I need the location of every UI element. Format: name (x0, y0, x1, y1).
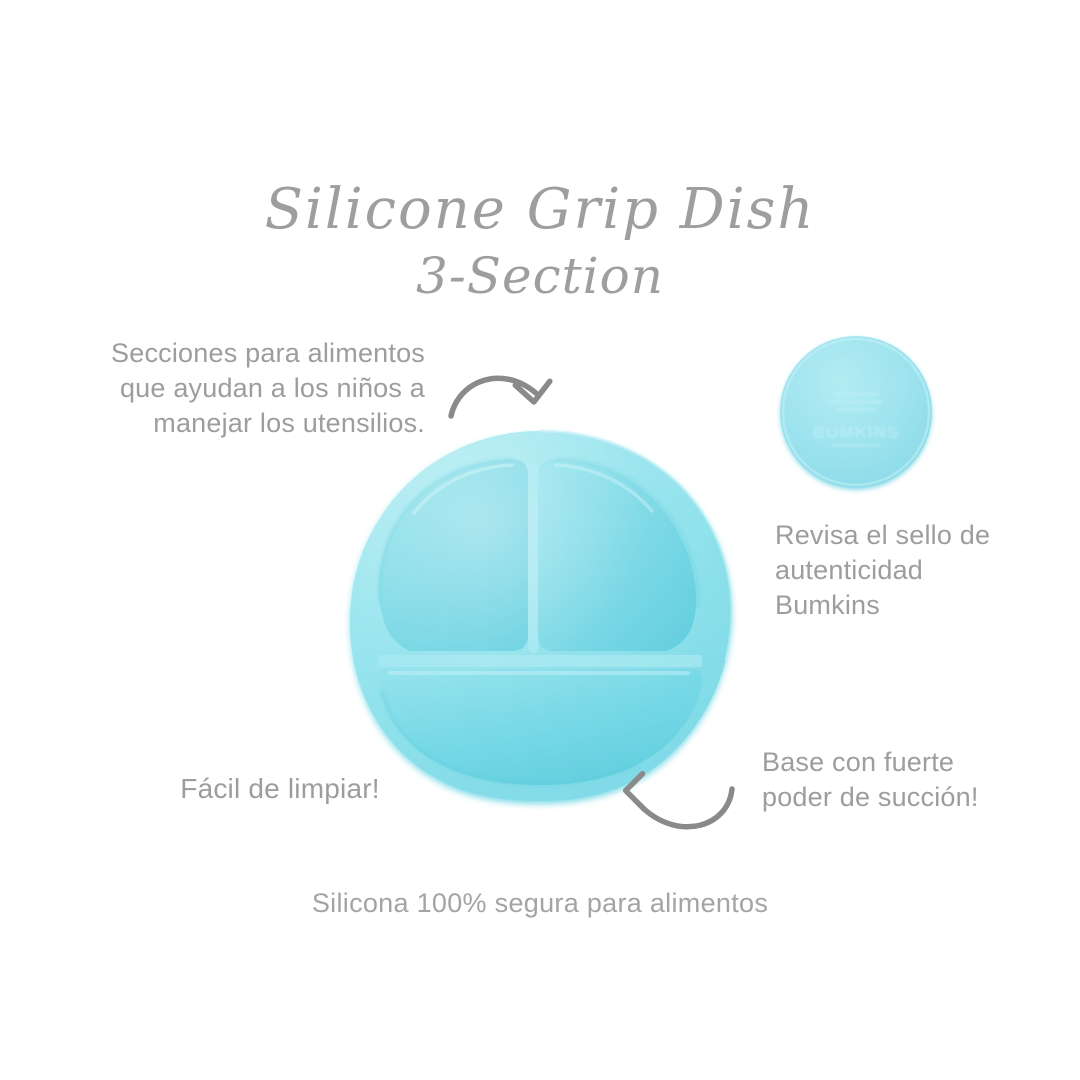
callout-sections: Secciones para alimentos que ayudan a lo… (60, 336, 425, 441)
page-title: Silicone Grip Dish 3-Section (0, 175, 1080, 307)
seal-brand-text: BUMKINS (813, 423, 899, 442)
divided-plate-icon (340, 415, 740, 815)
arrow-top-shaft (451, 378, 537, 416)
seal-emboss-mark (830, 392, 882, 411)
arrow-bottom-shaft (644, 789, 732, 827)
authenticity-seal-icon: BUMKINS (776, 332, 936, 492)
arrow-bottom-head (626, 774, 661, 809)
curved-arrow-icon (445, 362, 565, 432)
title-line-2: 3-Section (0, 245, 1080, 307)
callout-authenticity-seal: Revisa el sello de autenticidad Bumkins (775, 518, 1020, 623)
callout-suction-base: Base con fuerte poder de succión! (762, 745, 1002, 815)
seal-emboss-underline (832, 444, 880, 447)
dish-sheen (350, 431, 732, 801)
footer-caption: Silicona 100% segura para alimentos (0, 888, 1080, 919)
callout-easy-clean: Fácil de limpiar! (120, 771, 440, 806)
title-line-1: Silicone Grip Dish (0, 175, 1080, 245)
curved-arrow-icon (628, 775, 748, 845)
seal-disc (780, 336, 932, 488)
infographic-page: Silicone Grip Dish 3-Section (0, 0, 1080, 1080)
